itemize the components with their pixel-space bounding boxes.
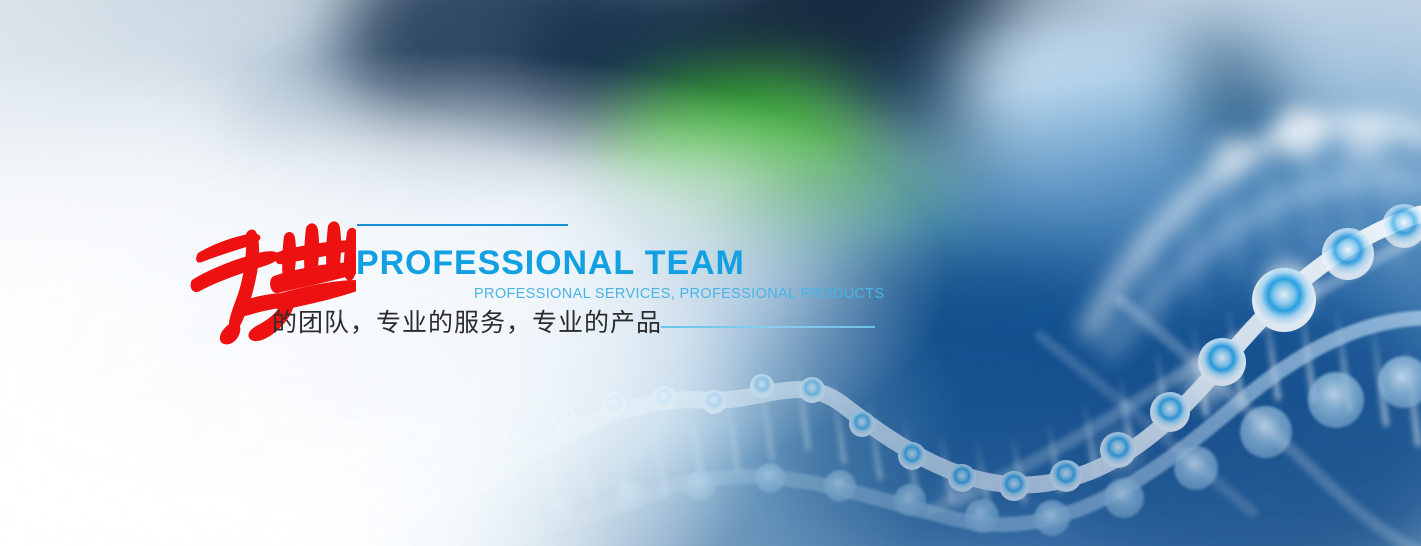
- banner-content: PROFESSIONAL TEAM PROFESSIONAL SERVICES,…: [0, 0, 1421, 546]
- bottom-accent-rule: [661, 326, 875, 328]
- professional-team-banner: PROFESSIONAL TEAM PROFESSIONAL SERVICES,…: [0, 0, 1421, 546]
- top-accent-rule: [357, 224, 568, 226]
- tagline-chinese: 的团队，专业的服务，专业的产品: [272, 307, 662, 339]
- page-subtitle: PROFESSIONAL SERVICES, PROFESSIONAL PROD…: [474, 285, 884, 303]
- page-title: PROFESSIONAL TEAM: [356, 243, 745, 283]
